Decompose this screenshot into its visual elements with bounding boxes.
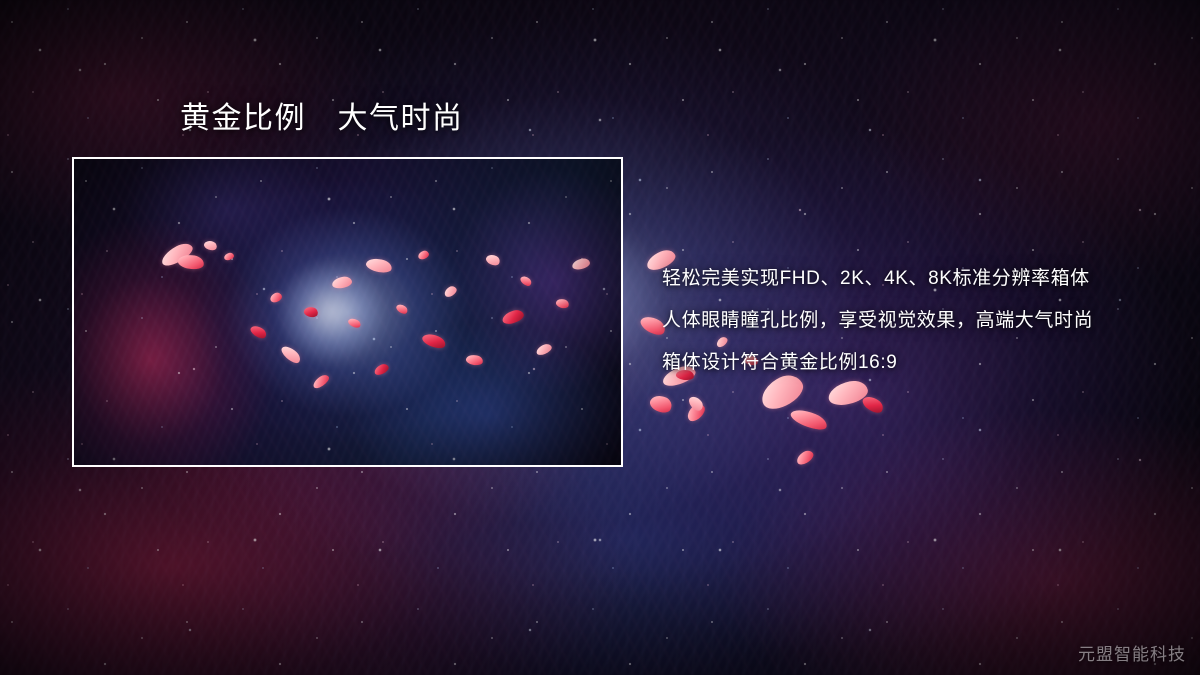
body-line-3: 箱体设计符合黄金比例16:9 (662, 342, 1162, 384)
body-line-1: 轻松完美实现FHD、2K、4K、8K标准分辨率箱体 (662, 258, 1162, 300)
presentation-slide: 黄金比例 大气时尚 轻松完美实现FHD、2K、4K、8K标准分辨率箱体 人体眼睛… (0, 0, 1200, 675)
company-watermark: 元盟智能科技 (1078, 640, 1186, 665)
rose-petal (648, 392, 675, 416)
rose-petal (789, 405, 830, 433)
framed-product-image[interactable] (72, 157, 623, 467)
slide-body-text: 轻松完美实现FHD、2K、4K、8K标准分辨率箱体 人体眼睛瞳孔比例，享受视觉效… (662, 258, 1162, 384)
body-line-2: 人体眼睛瞳孔比例，享受视觉效果，高端大气时尚 (662, 300, 1162, 342)
slide-title: 黄金比例 大气时尚 (180, 101, 464, 138)
rose-petal (794, 448, 815, 467)
frame-vignette-overlay (74, 159, 621, 465)
